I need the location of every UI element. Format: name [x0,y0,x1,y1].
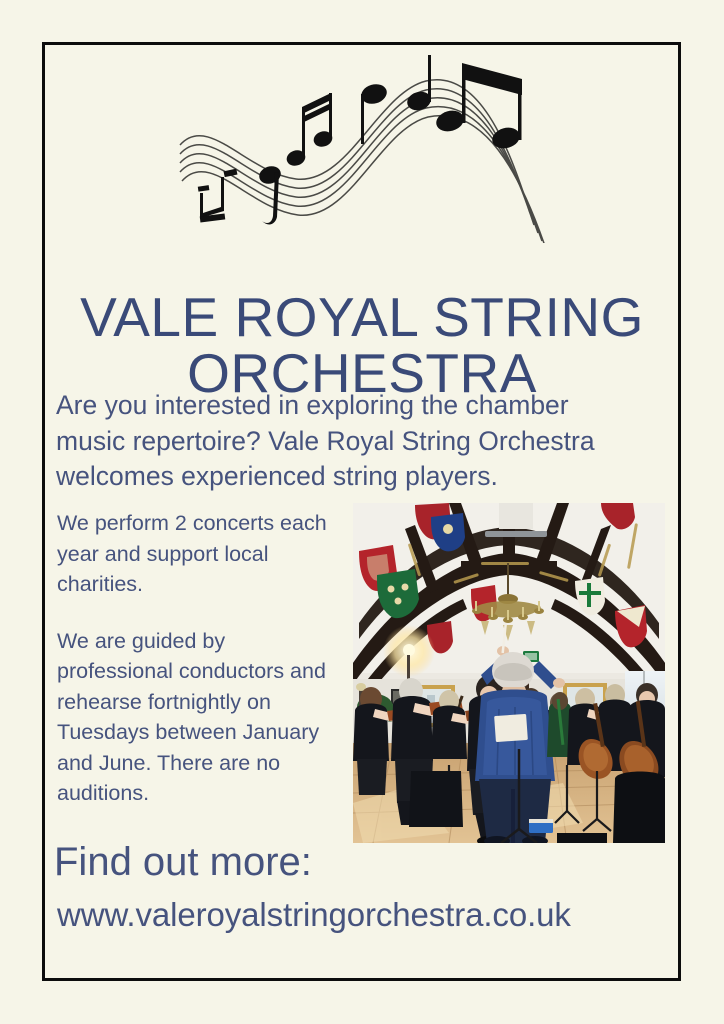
lead-paragraph: Are you interested in exploring the cham… [56,388,634,495]
title-line-1: VALE ROYAL STRING [80,286,644,348]
find-out-more-label: Find out more: [54,840,312,884]
body-paragraph-concerts: We perform 2 concerts each year and supp… [57,508,339,600]
page-title: VALE ROYAL STRING ORCHESTRA [52,289,672,401]
orchestra-photo [353,503,665,843]
body-paragraph-rehearsals: We are guided by professional conductors… [57,626,339,809]
website-url[interactable]: www.valeroyalstringorchestra.co.uk [57,897,571,933]
body-text-column: We perform 2 concerts each year and supp… [57,508,339,809]
poster: VALE ROYAL STRING ORCHESTRA Are you inte… [0,0,724,1024]
musical-staff-icon [178,53,550,243]
